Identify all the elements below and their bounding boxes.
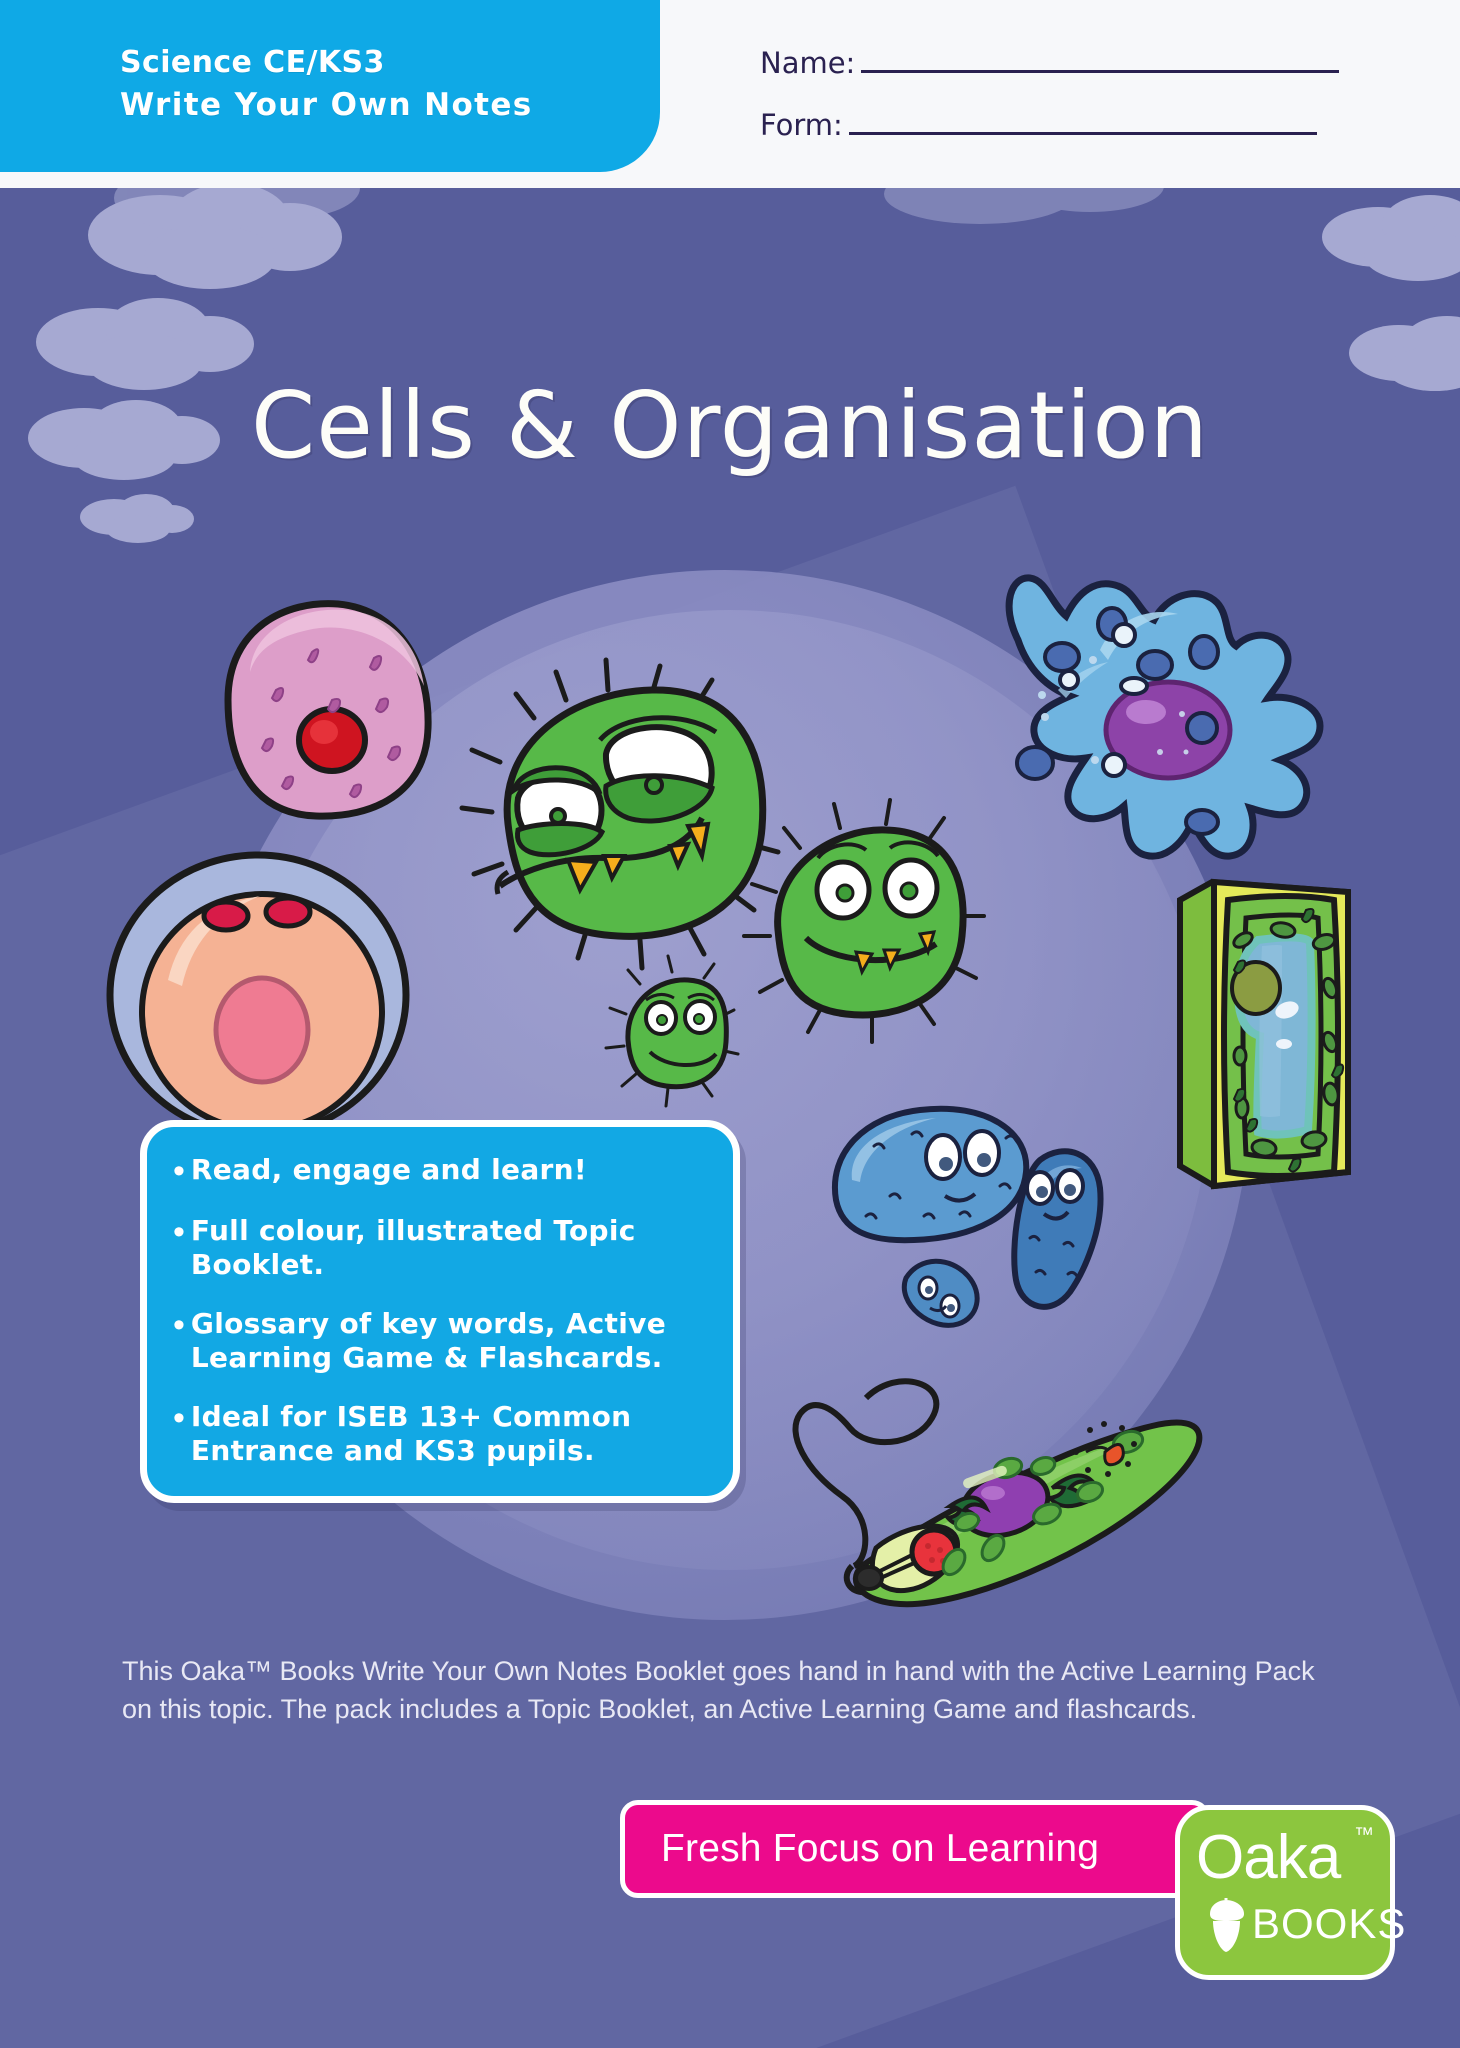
form-input[interactable] — [849, 132, 1317, 135]
bullet-marker-icon: • — [173, 1400, 185, 1436]
subject-line: Science CE/KS3 — [120, 42, 533, 84]
feature-bullet-box: • Read, engage and learn! • Full colour,… — [140, 1120, 740, 1503]
list-item: • Full colour, illustrated Topic Booklet… — [169, 1214, 707, 1282]
bullet-text: Read, engage and learn! — [191, 1153, 587, 1187]
form-field-row: Form: — [760, 106, 1339, 140]
strapline-text: Fresh Focus on Learning — [661, 1827, 1099, 1871]
list-item: • Glossary of key words, Active Learning… — [169, 1307, 707, 1375]
strapline-banner: Fresh Focus on Learning — [620, 1800, 1210, 1898]
logo-trademark: ™ — [1354, 1824, 1374, 1847]
bullet-text: Ideal for ISEB 13+ Common Entrance and K… — [191, 1400, 707, 1468]
name-label: Name: — [760, 48, 855, 78]
footer-description: This Oaka™ Books Write Your Own Notes Bo… — [122, 1652, 1352, 1728]
bullet-marker-icon: • — [173, 1153, 185, 1189]
form-label: Form: — [760, 110, 843, 140]
list-item: • Ideal for ISEB 13+ Common Entrance and… — [169, 1400, 707, 1468]
cover-title-wrap: Cells & Organisation — [0, 372, 1460, 479]
bullet-text: Full colour, illustrated Topic Booklet. — [191, 1214, 707, 1282]
logo-brand-text: Oaka — [1196, 1826, 1340, 1890]
list-item: • Read, engage and learn! — [169, 1153, 707, 1189]
subject-badge: Science CE/KS3 Write Your Own Notes — [0, 0, 660, 172]
name-input[interactable] — [861, 70, 1339, 73]
oaka-books-logo[interactable]: Oaka ™ BOOKS — [1175, 1805, 1395, 1980]
subject-badge-text: Science CE/KS3 Write Your Own Notes — [120, 42, 533, 126]
bullet-text: Glossary of key words, Active Learning G… — [191, 1307, 707, 1375]
acorn-icon — [1202, 1898, 1250, 1954]
booklet-cover: Cells & Organisation • Read, engage and … — [0, 0, 1460, 2048]
page-title: Cells & Organisation — [251, 372, 1209, 479]
bullet-marker-icon: • — [173, 1307, 185, 1343]
bullet-marker-icon: • — [173, 1214, 185, 1250]
logo-sub-text: BOOKS — [1252, 1902, 1406, 1946]
student-fields: Name: Form: — [760, 44, 1339, 168]
name-field-row: Name: — [760, 44, 1339, 78]
booklet-type-line: Write Your Own Notes — [120, 84, 533, 126]
